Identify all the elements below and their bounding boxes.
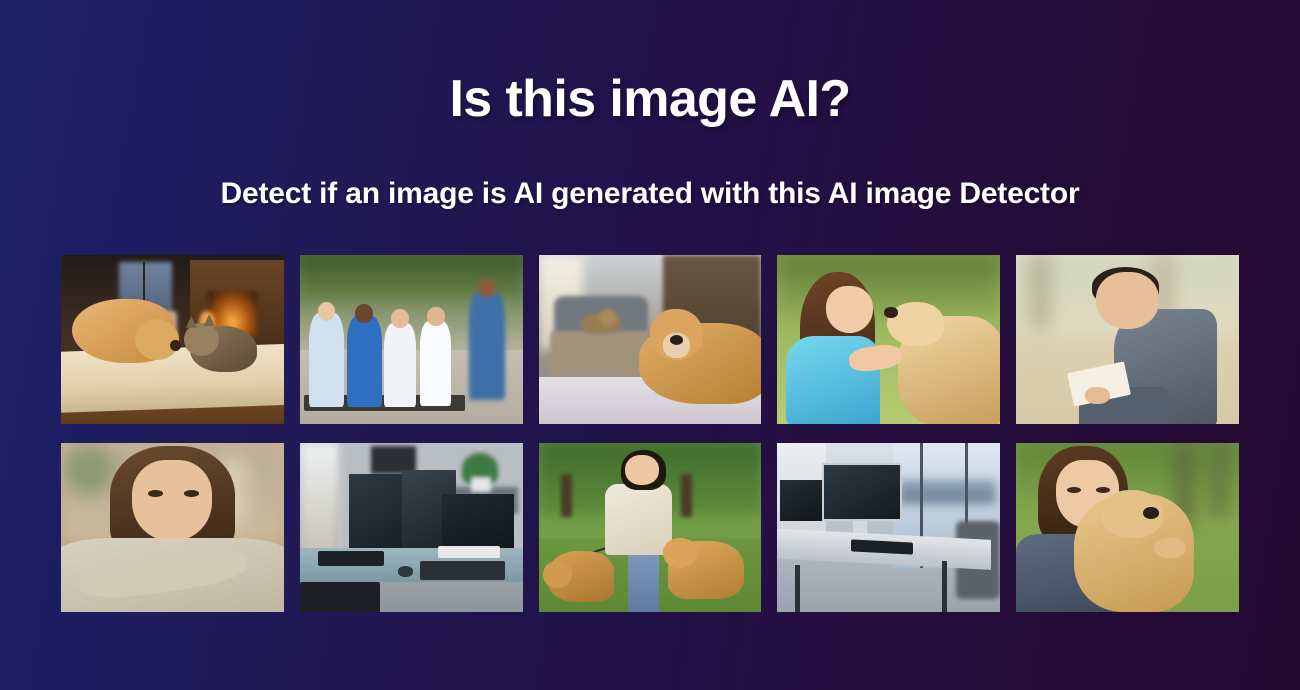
gallery-item-2[interactable] bbox=[300, 255, 523, 424]
gallery-item-8[interactable] bbox=[539, 443, 762, 612]
thumbnail-image-woman-in-sweater bbox=[61, 443, 284, 612]
thumbnail-image-woman-petting-dog bbox=[777, 255, 1000, 424]
thumbnail-image-office-with-skyline bbox=[777, 443, 1000, 612]
gallery-item-5[interactable] bbox=[1016, 255, 1239, 424]
thumbnail-image-man-reading-book bbox=[1016, 255, 1239, 424]
gallery-item-9[interactable] bbox=[777, 443, 1000, 612]
gallery-item-3[interactable] bbox=[539, 255, 762, 424]
gallery-item-4[interactable] bbox=[777, 255, 1000, 424]
thumbnail-image-retriever-with-bookshelf bbox=[539, 255, 762, 424]
sample-image-gallery bbox=[61, 255, 1239, 612]
hero-section: Is this image AI? Detect if an image is … bbox=[0, 0, 1300, 690]
gallery-item-7[interactable] bbox=[300, 443, 523, 612]
thumbnail-image-home-office-desk bbox=[300, 443, 523, 612]
page-subtitle: Detect if an image is AI generated with … bbox=[221, 177, 1080, 212]
thumbnail-image-woman-walking-dogs bbox=[539, 443, 762, 612]
thumbnail-image-dog-and-cat-on-rug bbox=[61, 255, 284, 424]
thumbnail-image-woman-holding-puppy bbox=[1016, 443, 1239, 612]
gallery-item-6[interactable] bbox=[61, 443, 284, 612]
gallery-item-1[interactable] bbox=[61, 255, 284, 424]
gallery-item-10[interactable] bbox=[1016, 443, 1239, 612]
thumbnail-image-students-on-bench bbox=[300, 255, 523, 424]
page-title: Is this image AI? bbox=[449, 72, 850, 127]
